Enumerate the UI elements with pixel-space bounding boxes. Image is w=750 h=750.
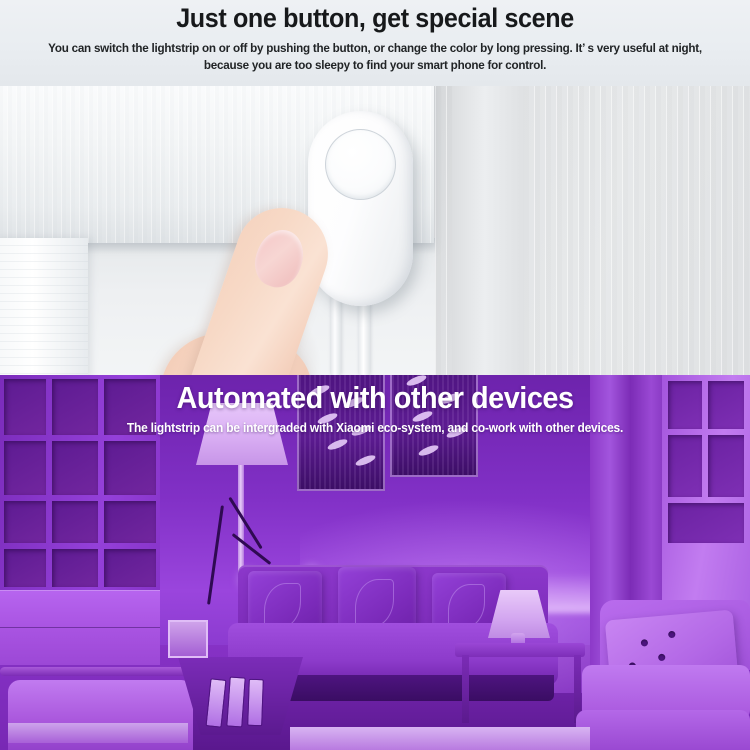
section-two-title: Automated with other devices: [26, 380, 724, 416]
cable-left: [330, 296, 341, 375]
coffee-table-left: [8, 723, 188, 743]
page-title: Just one button, get special scene: [26, 3, 724, 34]
cushion-pattern: [355, 579, 394, 628]
round-button[interactable]: [325, 129, 396, 200]
shelf-cell: [104, 549, 156, 587]
fingernail: [248, 224, 310, 294]
shelf-cell: [4, 549, 46, 587]
hand-pressing-controller-photo: [0, 78, 750, 375]
white-wood-post: [0, 238, 88, 375]
shelf-cell: [52, 441, 98, 495]
shelf-cell: [4, 501, 46, 543]
wall-board: [452, 78, 524, 375]
section-one-text: Just one button, get special scene You c…: [0, 0, 750, 86]
picture-frame: [168, 620, 208, 658]
shelf-cell: [104, 441, 156, 495]
armchair-rail: [0, 667, 200, 676]
automation-feature-section: Automated with other devices The lightst…: [0, 375, 750, 750]
shelf-cell: [104, 501, 156, 543]
shelf-cell: [668, 503, 744, 543]
magazine: [247, 679, 264, 726]
drawers: [0, 590, 160, 665]
section-two-text: Automated with other devices The lightst…: [0, 375, 750, 447]
shelf-cell: [52, 501, 98, 543]
subtitle-line-1: You can switch the lightstrip on or off …: [48, 41, 620, 55]
product-feature-page: Just one button, get special scene You c…: [0, 0, 750, 750]
side-table-leg: [462, 655, 469, 723]
controller-device[interactable]: [308, 111, 413, 306]
shelf-cell: [52, 549, 98, 587]
shelf-cell: [4, 441, 46, 495]
section-one-subtitle: You can switch the lightstrip on or off …: [47, 40, 703, 73]
button-feature-section: Just one button, get special scene You c…: [0, 0, 750, 375]
cushion-pattern: [264, 583, 301, 629]
section-two-subtitle: The lightstrip can be intergraded with X…: [57, 421, 694, 435]
right-sofa-ottoman: [576, 710, 750, 750]
magazine: [206, 678, 227, 727]
side-table: [455, 643, 585, 657]
cable-right: [358, 300, 370, 375]
coffee-table: [290, 727, 590, 750]
magazine: [226, 677, 245, 728]
